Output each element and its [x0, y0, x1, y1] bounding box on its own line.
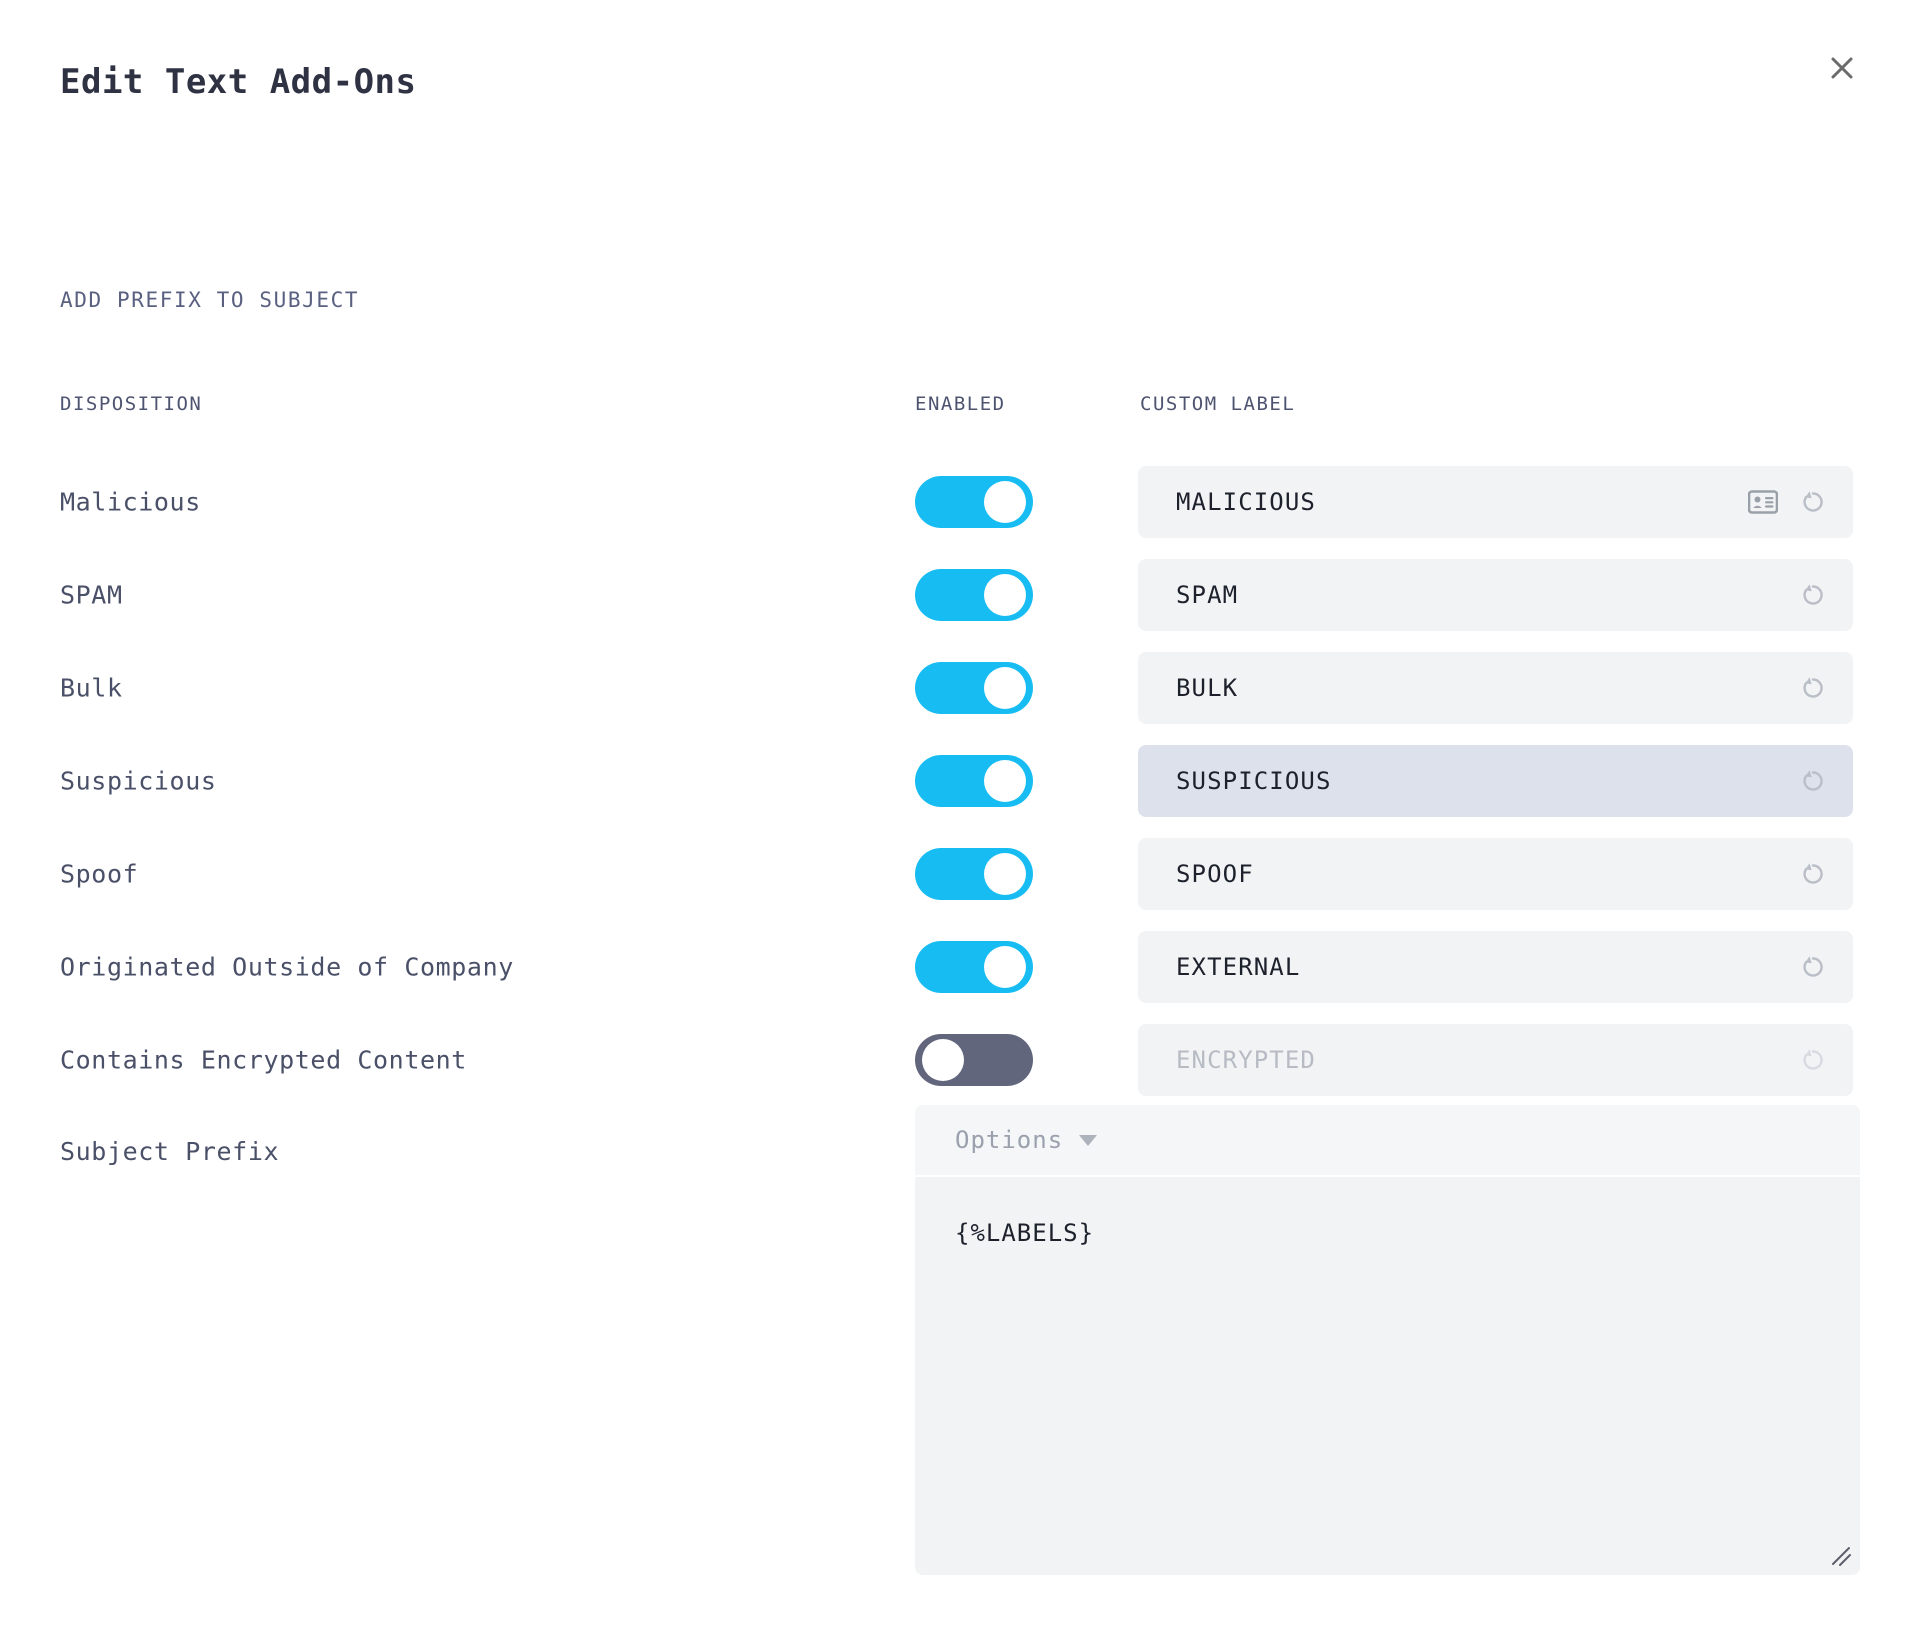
enabled-toggle[interactable] — [915, 1034, 1033, 1086]
subject-prefix-textarea[interactable]: {%LABELS} — [915, 1177, 1860, 1575]
toggle-knob — [922, 1039, 964, 1081]
custom-label-field[interactable]: ENCRYPTED — [1138, 1024, 1853, 1096]
field-icon-group — [1795, 670, 1831, 706]
custom-label-value: EXTERNAL — [1176, 953, 1795, 981]
enabled-toggle[interactable] — [915, 755, 1033, 807]
custom-label-field[interactable]: MALICIOUS — [1138, 466, 1853, 538]
enabled-toggle[interactable] — [915, 569, 1033, 621]
toggle-knob — [984, 853, 1026, 895]
chevron-down-icon — [1079, 1135, 1097, 1146]
disposition-rows: MaliciousMALICIOUSSPAMSPAMBulkBULKSuspic… — [0, 455, 1908, 1106]
custom-label-value: BULK — [1176, 674, 1795, 702]
page-title: Edit Text Add-Ons — [60, 62, 417, 102]
field-icon-group — [1795, 763, 1831, 799]
column-header-disposition: DISPOSITION — [60, 393, 202, 415]
close-button[interactable] — [1814, 40, 1870, 96]
custom-label-value: MALICIOUS — [1176, 488, 1745, 516]
toggle-knob — [984, 946, 1026, 988]
reset-icon[interactable] — [1795, 763, 1831, 799]
subject-prefix-editor: Options {%LABELS} — [915, 1105, 1860, 1575]
toggle-knob — [984, 760, 1026, 802]
table-row: SPAMSPAM — [0, 548, 1908, 641]
reset-icon[interactable] — [1795, 670, 1831, 706]
section-title: ADD PREFIX TO SUBJECT — [60, 288, 359, 312]
close-icon — [1827, 53, 1857, 83]
disposition-label: Originated Outside of Company — [60, 952, 514, 981]
field-icon-group — [1745, 484, 1831, 520]
options-dropdown[interactable]: Options — [915, 1105, 1860, 1177]
column-header-custom-label: CUSTOM LABEL — [1140, 393, 1295, 415]
toggle-knob — [984, 667, 1026, 709]
custom-label-field[interactable]: SUSPICIOUS — [1138, 745, 1853, 817]
custom-label-value: SPAM — [1176, 581, 1795, 609]
toggle-knob — [984, 481, 1026, 523]
field-icon-group — [1795, 1042, 1831, 1078]
table-row: SpoofSPOOF — [0, 827, 1908, 920]
reset-icon[interactable] — [1795, 856, 1831, 892]
custom-label-field[interactable]: BULK — [1138, 652, 1853, 724]
table-row: BulkBULK — [0, 641, 1908, 734]
custom-label-field[interactable]: SPAM — [1138, 559, 1853, 631]
custom-label-value: SUSPICIOUS — [1176, 767, 1795, 795]
custom-label-field[interactable]: EXTERNAL — [1138, 931, 1853, 1003]
field-icon-group — [1795, 856, 1831, 892]
enabled-toggle[interactable] — [915, 476, 1033, 528]
subject-prefix-label: Subject Prefix — [60, 1137, 279, 1166]
table-row: MaliciousMALICIOUS — [0, 455, 1908, 548]
options-dropdown-label: Options — [955, 1126, 1063, 1154]
disposition-label: Bulk — [60, 673, 123, 702]
disposition-label: Suspicious — [60, 766, 217, 795]
custom-label-value: ENCRYPTED — [1176, 1046, 1795, 1074]
enabled-toggle[interactable] — [915, 848, 1033, 900]
enabled-toggle[interactable] — [915, 941, 1033, 993]
reset-icon[interactable] — [1795, 577, 1831, 613]
reset-icon[interactable] — [1795, 1042, 1831, 1078]
column-header-enabled: ENABLED — [915, 393, 1006, 415]
disposition-label: Contains Encrypted Content — [60, 1045, 467, 1074]
field-icon-group — [1795, 949, 1831, 985]
field-icon-group — [1795, 577, 1831, 613]
resize-grip-icon[interactable] — [1828, 1543, 1854, 1569]
reset-icon[interactable] — [1795, 484, 1831, 520]
disposition-label: SPAM — [60, 580, 123, 609]
toggle-knob — [984, 574, 1026, 616]
subject-prefix-value: {%LABELS} — [955, 1219, 1820, 1247]
contact-card-icon[interactable] — [1745, 484, 1781, 520]
table-row: Originated Outside of CompanyEXTERNAL — [0, 920, 1908, 1013]
reset-icon[interactable] — [1795, 949, 1831, 985]
table-row: Contains Encrypted ContentENCRYPTED — [0, 1013, 1908, 1106]
disposition-label: Spoof — [60, 859, 138, 888]
edit-text-addons-dialog: Edit Text Add-Ons ADD PREFIX TO SUBJECT … — [0, 0, 1908, 1650]
custom-label-value: SPOOF — [1176, 860, 1795, 888]
disposition-label: Malicious — [60, 487, 201, 516]
enabled-toggle[interactable] — [915, 662, 1033, 714]
custom-label-field[interactable]: SPOOF — [1138, 838, 1853, 910]
table-row: SuspiciousSUSPICIOUS — [0, 734, 1908, 827]
